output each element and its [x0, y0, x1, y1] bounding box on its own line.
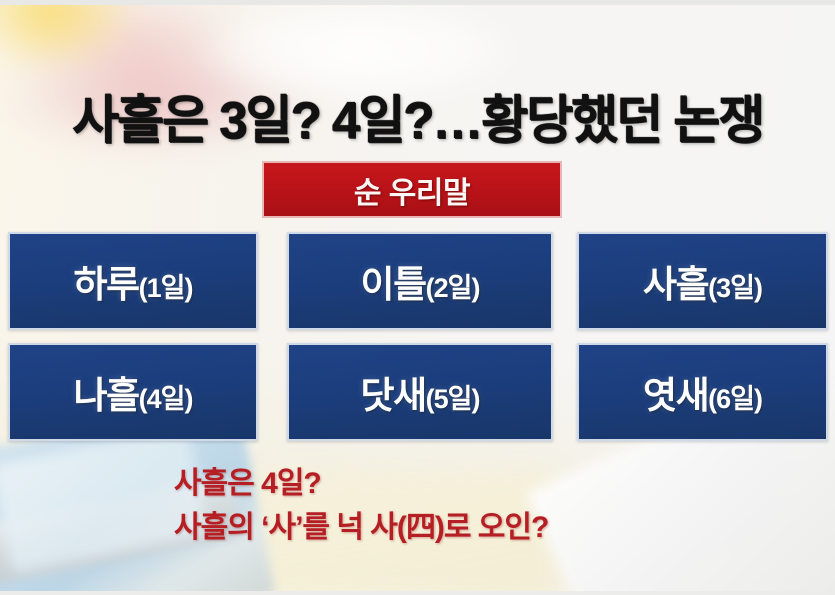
- term-label: 이틀 (2일): [361, 254, 480, 308]
- term-word: 하루: [74, 254, 139, 308]
- term-word: 나흘: [74, 365, 139, 419]
- term-cell-yeotsae: 엿새 (6일): [577, 343, 828, 441]
- term-paren: (1일): [139, 266, 193, 305]
- native-korean-day-terms-grid: 하루 (1일) 이틀 (2일) 사흘 (3일) 나흘 (4일) 닷새: [8, 232, 828, 441]
- background-top-strip: [0, 0, 835, 5]
- term-word: 사흘: [643, 254, 708, 308]
- caption-line-2: 사흘의 ‘사’를 넉 사(四)로 오인?: [174, 506, 814, 550]
- caption-line-1: 사흘은 4일?: [174, 462, 814, 506]
- term-label: 닷새 (5일): [361, 365, 480, 419]
- term-paren: (3일): [708, 266, 762, 305]
- term-cell-haru: 하루 (1일): [8, 232, 258, 330]
- term-paren: (5일): [426, 377, 480, 416]
- term-cell-naheul: 나흘 (4일): [8, 343, 258, 441]
- term-label: 엿새 (6일): [643, 365, 762, 419]
- term-label: 사흘 (3일): [643, 254, 762, 308]
- headline: 사흘은 3일? 4일?…황당했던 논쟁: [38, 80, 798, 150]
- broadcast-graphic-screen: 사흘은 3일? 4일?…황당했던 논쟁 순 우리말 하루 (1일) 이틀 (2일…: [0, 0, 835, 595]
- term-word: 엿새: [643, 365, 708, 419]
- category-banner: 순 우리말: [262, 161, 562, 218]
- term-cell-datsae: 닷새 (5일): [287, 343, 553, 441]
- caption-block: 사흘은 4일? 사흘의 ‘사’를 넉 사(四)로 오인?: [174, 462, 814, 550]
- term-cell-saheul: 사흘 (3일): [577, 232, 828, 330]
- term-paren: (2일): [426, 266, 480, 305]
- background-bottom-strip: [0, 591, 835, 595]
- term-word: 닷새: [361, 365, 426, 419]
- term-label: 하루 (1일): [74, 254, 193, 308]
- term-paren: (4일): [139, 377, 193, 416]
- term-paren: (6일): [708, 377, 762, 416]
- term-word: 이틀: [361, 254, 426, 308]
- term-label: 나흘 (4일): [74, 365, 193, 419]
- category-banner-label: 순 우리말: [354, 168, 470, 212]
- term-cell-iteul: 이틀 (2일): [287, 232, 553, 330]
